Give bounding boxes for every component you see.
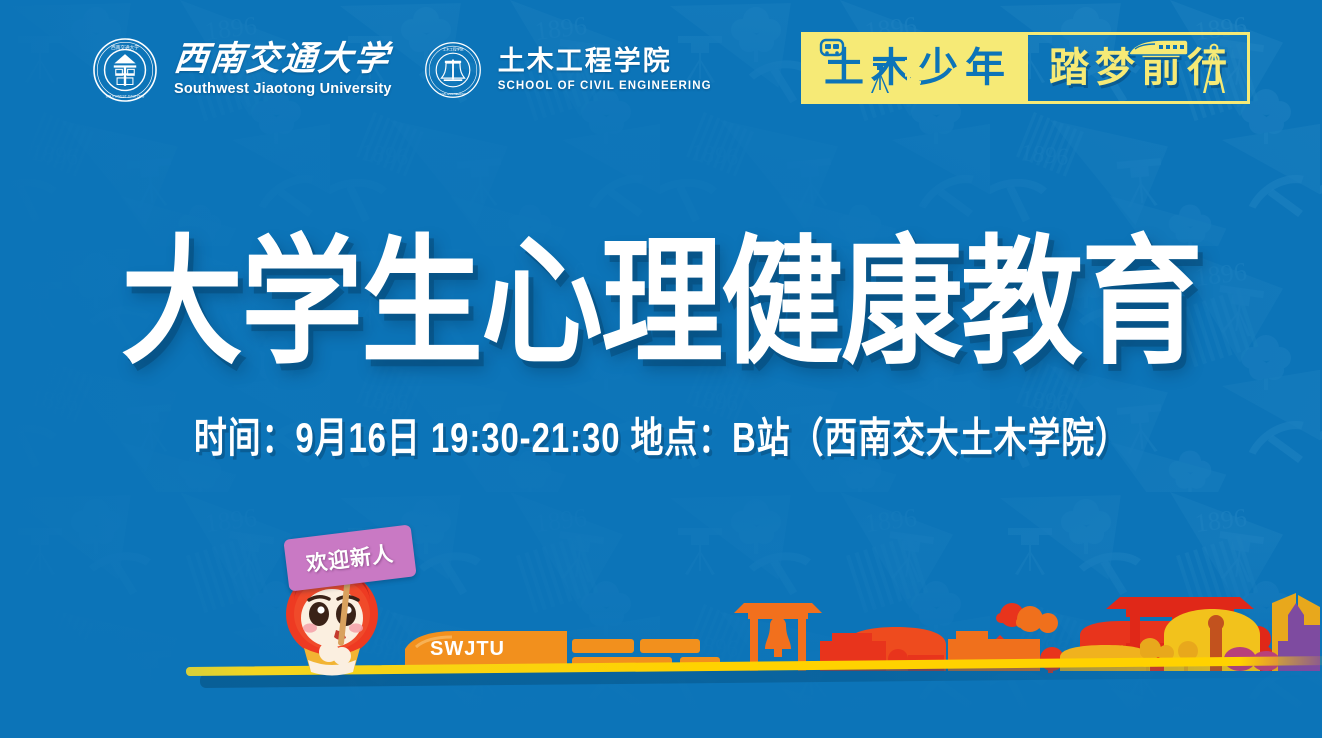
school-name-en: SCHOOL OF CIVIL ENGINEERING (498, 81, 712, 93)
swjtu-mascot: 欢迎新人 (272, 536, 402, 676)
svg-text:西南交通大学: 西南交通大学 (111, 44, 139, 51)
main-title: 大学生心理健康教育 (0, 232, 1322, 356)
university-name-cn: 西南交通大学 (172, 43, 393, 77)
slogan-box: 踏梦前行 (1018, 32, 1250, 104)
school-name-cn: 土木工程学院 (498, 48, 712, 75)
poster-canvas: 1896 1896 西南交通大学 SOUTHWEST JIAOTONG (0, 0, 1322, 738)
main-title-text: 大学生心理健康教育 (121, 232, 1201, 374)
slogan-box-text: 踏梦前行 (1043, 48, 1233, 88)
svg-text:CIVIL ENGINEERING: CIVIL ENGINEERING (440, 92, 466, 96)
swjtu-seal-icon: 西南交通大学 SOUTHWEST JIAOTONG (92, 37, 158, 103)
slogan-block: 土木少年 (801, 32, 1028, 104)
event-details: 时间：9月16日 19:30-21:30 地点：B站（西南交大土木学院） (0, 405, 1322, 456)
event-details-text: 时间：9月16日 19:30-21:30 地点：B站（西南交大土木学院） (193, 405, 1128, 465)
slogan-badge: 土木少年 (801, 32, 1250, 104)
university-name-en: Southwest Jiaotong University (174, 82, 392, 97)
civil-engineering-seal-icon: 土木工程学院 CIVIL ENGINEERING (424, 41, 482, 99)
welcome-sign-text: 欢迎新人 (304, 538, 395, 579)
university-logo: 西南交通大学 SOUTHWEST JIAOTONG 西南交通大学 Southwe… (92, 37, 392, 103)
bottom-illustration: SWJTU (0, 508, 1322, 738)
slogan-block-text: 土木少年 (817, 48, 1012, 88)
svg-text:土木工程学院: 土木工程学院 (442, 46, 463, 51)
svg-text:SOUTHWEST JIAOTONG: SOUTHWEST JIAOTONG (106, 95, 145, 99)
school-logo: 土木工程学院 CIVIL ENGINEERING 土木工程学院 SCHOOL O… (424, 41, 712, 99)
